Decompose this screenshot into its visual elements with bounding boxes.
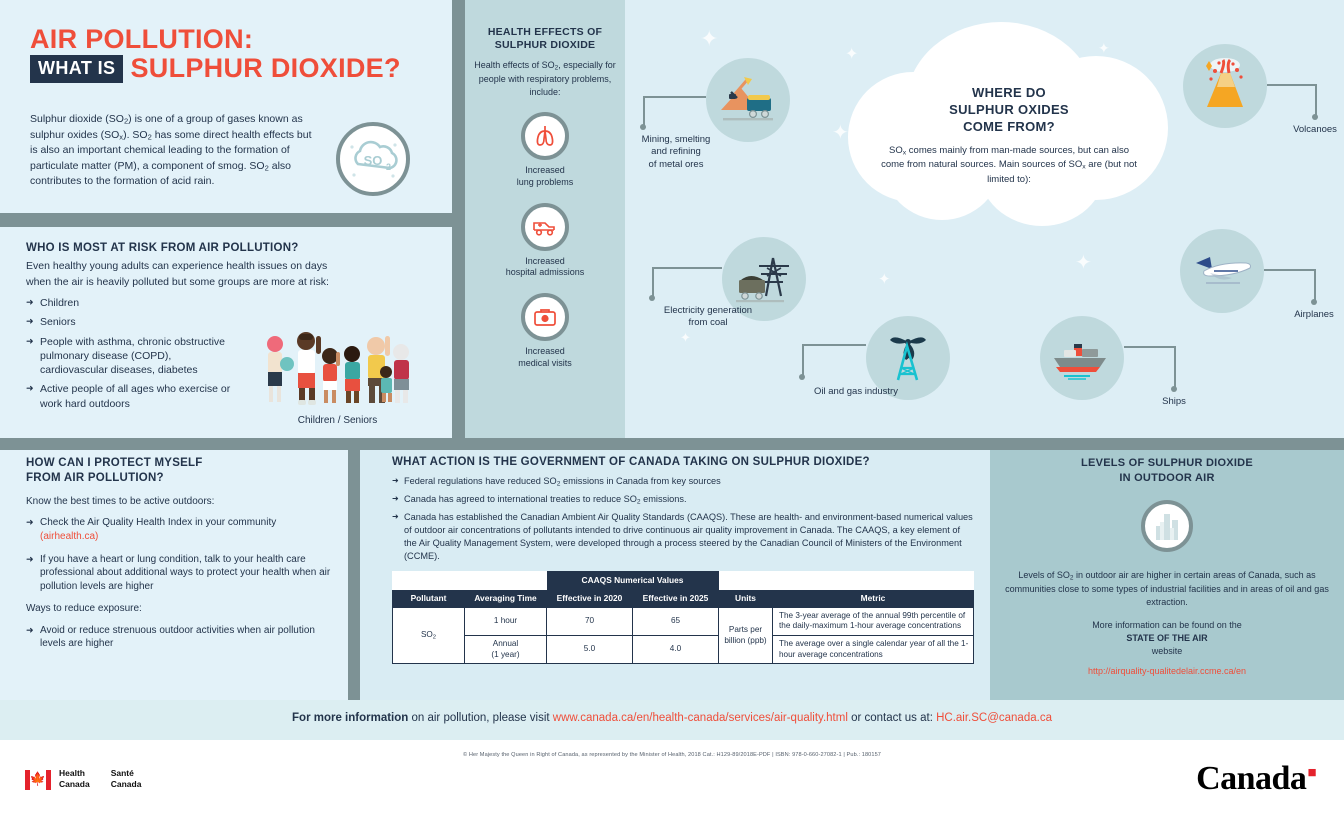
left-divider-bar — [0, 213, 452, 227]
table-header-row: Pollutant Averaging Time Effective in 20… — [393, 589, 974, 607]
blank-cell — [393, 571, 465, 589]
list-item: Children — [26, 296, 346, 310]
action-list: Federal regulations have reduced SO2 emi… — [392, 475, 974, 563]
bar-chart-icon — [1139, 498, 1195, 554]
levels-icon-wrap — [1000, 498, 1334, 559]
protect-heading: HOW CAN I PROTECT MYSELF FROM AIR POLLUT… — [26, 456, 336, 486]
levels-heading-line1: LEVELS OF SULPHUR DIOXIDE — [1000, 456, 1334, 471]
leader-line — [1267, 84, 1317, 86]
health-item-medical: Increased medical visits — [467, 293, 623, 369]
cloud-text-block: WHERE DO SULPHUR OXIDES COME FROM? SOx c… — [878, 85, 1140, 186]
list-item: Active people of all ages who exercise o… — [26, 382, 231, 411]
volcano-icon — [1183, 44, 1267, 128]
table-group-header-row: CAAQS Numerical Values — [393, 571, 974, 589]
cell-effective-2025: 65 — [633, 607, 719, 635]
cloud-subtext: SOx comes mainly from man-made sources, … — [878, 144, 1140, 187]
cell-effective-2020: 5.0 — [547, 636, 633, 664]
list-item: Federal regulations have reduced SO2 emi… — [392, 475, 974, 489]
list-item: People with asthma, chronic obstructive … — [26, 335, 231, 378]
protect-subhead-1: Know the best times to be active outdoor… — [26, 495, 336, 510]
page-title-line2: SULPHUR DIOXIDE? — [130, 53, 400, 84]
cloud-title-line1: WHERE DO — [878, 85, 1140, 102]
people-caption: Children / Seniors — [255, 415, 420, 426]
intro-paragraph: Sulphur dioxide (SO2) is one of a group … — [30, 112, 316, 190]
leader-dot — [1311, 299, 1317, 305]
protect-list-2: Avoid or reduce strenuous outdoor activi… — [26, 624, 336, 651]
leader-line — [1124, 346, 1176, 348]
list-item: Avoid or reduce strenuous outdoor activi… — [26, 624, 336, 651]
footer-mid: or contact us at: — [848, 712, 936, 724]
page-title-line1: AIR POLLUTION: — [30, 26, 253, 54]
source-volcano: Volcanoes — [1183, 44, 1267, 128]
source-label-mining: Mining, smeltingand refiningof metal ore… — [628, 134, 724, 171]
leader-line — [652, 267, 654, 297]
th-effective-2025: Effective in 2025 — [633, 589, 719, 607]
canada-flag-icon: 🍁 — [24, 769, 52, 789]
leader-line — [1174, 346, 1176, 388]
so2-badge: SO 2 — [332, 120, 414, 203]
list-item: If you have a heart or lung condition, t… — [26, 553, 336, 594]
leader-line — [652, 267, 722, 269]
list-item: Seniors — [26, 315, 346, 329]
ship-icon — [1040, 316, 1124, 400]
source-mining: Mining, smeltingand refiningof metal ore… — [706, 58, 790, 142]
source-ship: Ships — [1040, 316, 1124, 400]
caaqs-table: CAAQS Numerical Values Pollutant Averagi… — [392, 571, 974, 664]
th-effective-2020: Effective in 2020 — [547, 589, 633, 607]
canada-ca-link[interactable]: www.canada.ca/en/health-canada/services/… — [553, 712, 848, 724]
leader-line — [1315, 84, 1317, 116]
dept-name-fr: Santé Canada — [111, 768, 142, 789]
source-label-oilgas: Oil and gas industry — [786, 386, 926, 398]
mid-divider-bar — [0, 438, 1344, 450]
list-item: Canada has established the Canadian Ambi… — [392, 511, 974, 563]
source-label-volcano: Volcanoes — [1265, 124, 1344, 136]
protect-subhead-2: Ways to reduce exposure: — [26, 602, 336, 617]
levels-more: More information can be found on the STA… — [1000, 619, 1334, 658]
source-label-ship: Ships — [1136, 396, 1212, 408]
leader-dot — [640, 124, 646, 130]
leader-dot — [1171, 386, 1177, 392]
health-item-label: Increased lung problems — [467, 165, 623, 188]
email-link[interactable]: HC.air.SC@canada.ca — [936, 712, 1052, 724]
svg-text:2: 2 — [386, 162, 391, 172]
health-item-ambulance: Increased hospital admissions — [467, 203, 623, 279]
cloud-title-line2: SULPHUR OXIDES — [878, 102, 1140, 119]
footer-lead-rest: on air pollution, please visit — [408, 712, 552, 724]
so2-cloud-icon: SO 2 — [332, 120, 414, 198]
th-pollutant: Pollutant — [393, 589, 465, 607]
levels-section: LEVELS OF SULPHUR DIOXIDE IN OUTDOOR AIR… — [1000, 456, 1334, 676]
list-item: Canada has agreed to international treat… — [392, 493, 974, 507]
health-item-label: Increased medical visits — [467, 346, 623, 369]
health-lead: Health effects of SO2, especially for pe… — [467, 59, 623, 98]
cell-pollutant: SO2 — [393, 607, 465, 664]
leader-line — [802, 344, 804, 376]
ambulance-icon — [521, 203, 569, 251]
leader-line — [643, 96, 645, 126]
health-item-lungs: Increased lung problems — [467, 112, 623, 188]
lungs-icon — [521, 112, 569, 160]
cell-averaging-time: 1 hour — [465, 607, 547, 635]
left-vertical-bar — [452, 0, 465, 438]
blank-cell — [773, 571, 974, 589]
source-oilgas: Oil and gas industry — [866, 316, 950, 400]
cloud-title-line3: COME FROM? — [878, 119, 1140, 136]
health-heading-line2: SULPHUR DIOXIDE — [467, 39, 623, 52]
leader-dot — [649, 295, 655, 301]
svg-text:SO: SO — [364, 153, 383, 168]
blank-cell — [719, 571, 773, 589]
cell-metric: The average over a single calendar year … — [773, 636, 974, 664]
footer-lead-bold: For more information — [292, 712, 408, 724]
leader-line — [1264, 269, 1316, 271]
protect-section: HOW CAN I PROTECT MYSELF FROM AIR POLLUT… — [26, 456, 336, 660]
health-effects-section: HEALTH EFFECTS OF SULPHUR DIOXIDE Health… — [467, 26, 623, 370]
airplane-icon — [1180, 229, 1264, 313]
health-canada-logo: 🍁 Health Canada Santé Canada — [24, 768, 141, 789]
footer-contact-line: For more information on air pollution, p… — [0, 712, 1344, 724]
table-row: Annual(1 year) 5.0 4.0 The average over … — [393, 636, 974, 664]
action-heading: WHAT ACTION IS THE GOVERNMENT OF CANADA … — [392, 456, 974, 468]
cell-units: Parts per billion (ppb) — [719, 607, 773, 664]
leader-line — [1314, 269, 1316, 301]
protect-item-1-text: Check the Air Quality Health Index in yo… — [40, 517, 276, 528]
health-item-label: Increased hospital admissions — [467, 256, 623, 279]
levels-text: Levels of SO2 in outdoor air are higher … — [1000, 569, 1334, 609]
cell-metric: The 3-year average of the annual 99th pe… — [773, 607, 974, 635]
caaqs-group-header: CAAQS Numerical Values — [547, 571, 719, 589]
ccme-url-link[interactable]: http://airquality-qualitedelair.ccme.ca/… — [1000, 666, 1334, 676]
th-averaging-time: Averaging Time — [465, 589, 547, 607]
leader-line — [643, 96, 706, 98]
bottom-divider-bar — [348, 450, 360, 700]
th-units: Units — [719, 589, 773, 607]
airhealth-link[interactable]: (airhealth.ca) — [40, 531, 98, 542]
leader-dot — [799, 374, 805, 380]
page-title-row2: WHAT IS SULPHUR DIOXIDE? — [30, 53, 401, 84]
mining-icon — [706, 58, 790, 142]
blank-cell — [465, 571, 547, 589]
dept-name-en: Health Canada — [59, 768, 90, 789]
source-airplane: Airplanes — [1180, 229, 1264, 313]
source-label-airplane: Airplanes — [1266, 309, 1344, 321]
what-is-chip: WHAT IS — [30, 55, 123, 83]
copyright-line: © Her Majesty the Queen in Right of Cana… — [0, 752, 1344, 758]
people-illustration-wrap: Children / Seniors — [255, 330, 420, 426]
risk-heading: WHO IS MOST AT RISK FROM AIR POLLUTION? — [26, 242, 346, 254]
leader-line — [802, 344, 866, 346]
cell-effective-2025: 4.0 — [633, 636, 719, 664]
health-heading-line1: HEALTH EFFECTS OF — [467, 26, 623, 39]
protect-list-1: Check the Air Quality Health Index in yo… — [26, 516, 336, 593]
levels-heading-line2: IN OUTDOOR AIR — [1000, 471, 1334, 486]
wordmark-flag-icon: ■ — [1307, 765, 1316, 782]
source-label-coal: Electricity generationfrom coal — [638, 305, 778, 330]
th-metric: Metric — [773, 589, 974, 607]
cell-effective-2020: 70 — [547, 607, 633, 635]
canada-wordmark: Canada■ — [1196, 760, 1316, 798]
table-row: SO2 1 hour 70 65 Parts per billion (ppb)… — [393, 607, 974, 635]
infographic-page: ✦ ✦ ✦ ✦ ✦ ✦ ✦ ✦ ✦ AIR POLLUTION: WHAT IS… — [0, 0, 1344, 816]
risk-lead: Even healthy young adults can experience… — [26, 259, 346, 290]
leader-dot — [1312, 114, 1318, 120]
cell-averaging-time: Annual(1 year) — [465, 636, 547, 664]
source-coal: Electricity generationfrom coal — [722, 237, 806, 321]
medical-bag-icon — [521, 293, 569, 341]
children-seniors-icon — [258, 330, 418, 408]
action-section: WHAT ACTION IS THE GOVERNMENT OF CANADA … — [392, 456, 974, 664]
list-item: Check the Air Quality Health Index in yo… — [26, 516, 336, 543]
